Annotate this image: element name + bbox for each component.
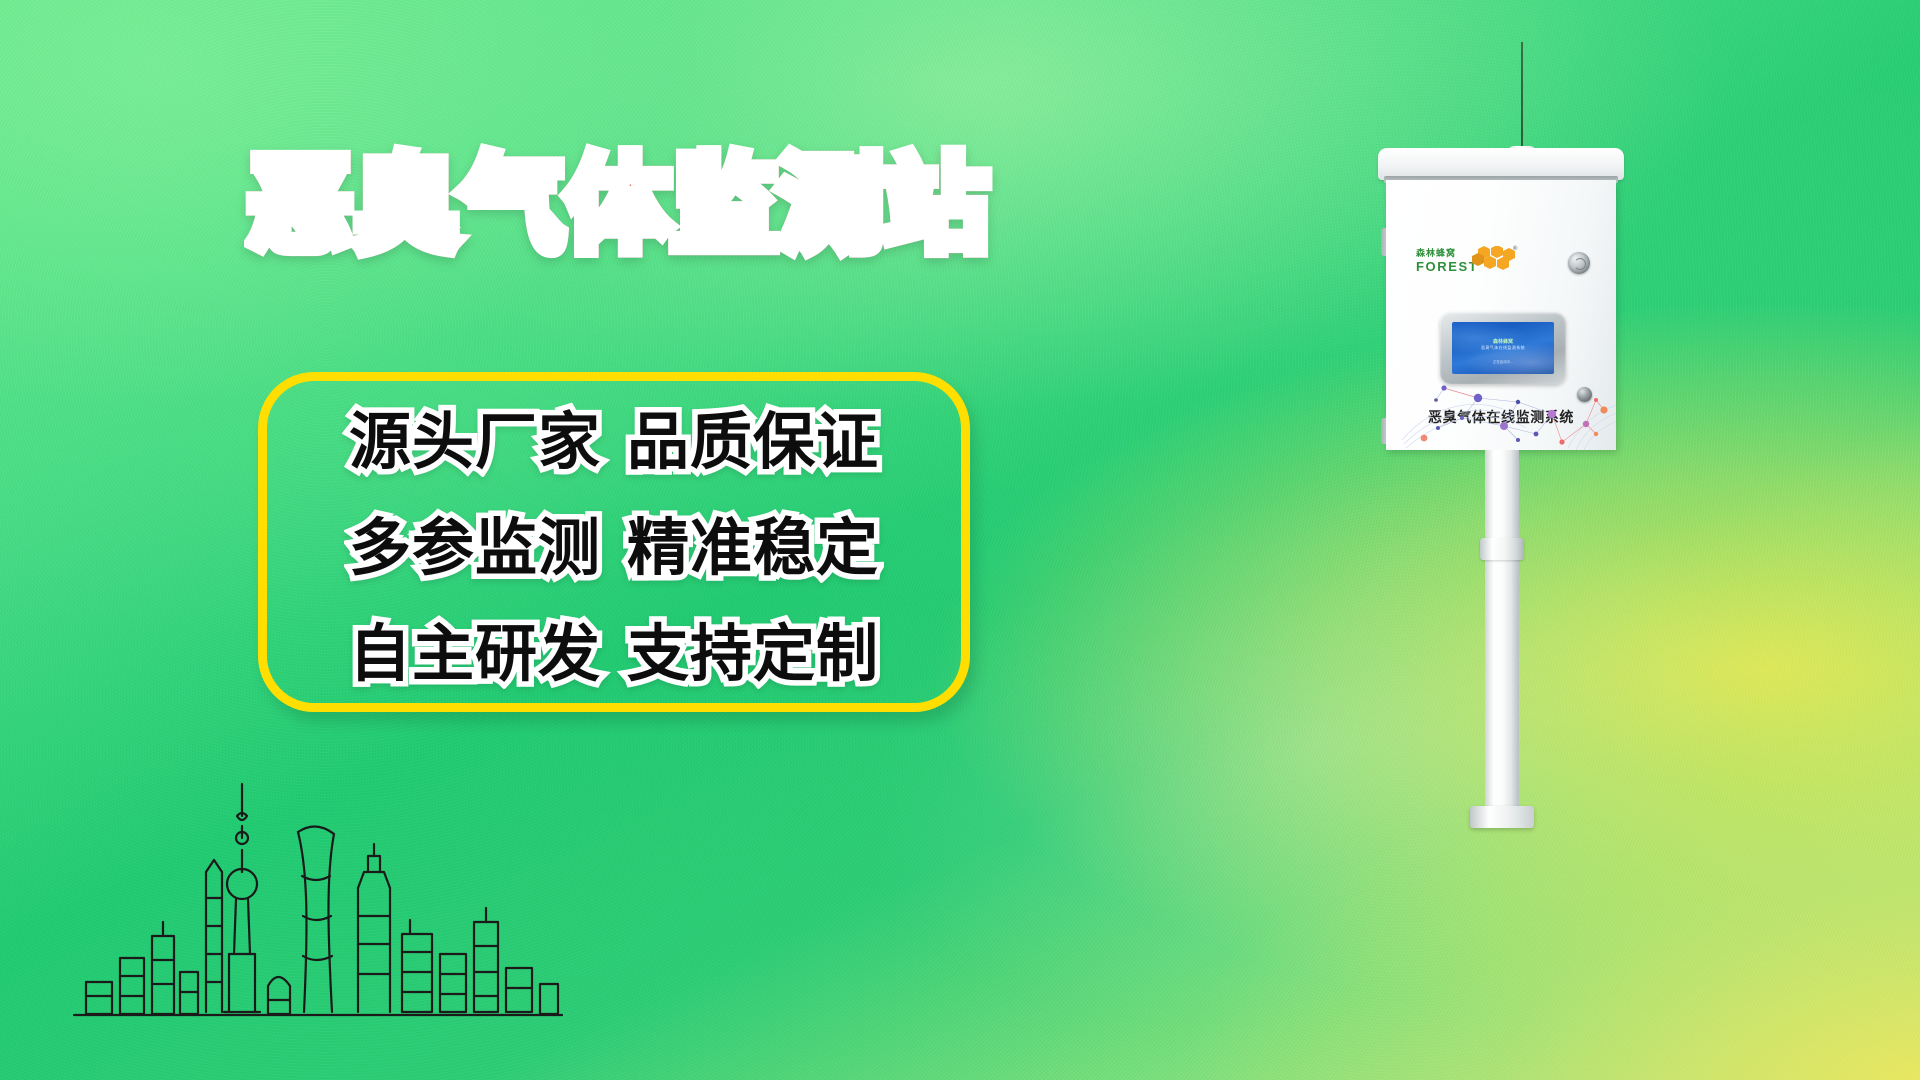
feature-1-right: 品质保证	[627, 408, 879, 477]
feature-1-left: 源头厂家	[349, 408, 601, 477]
cabinet-body: 森林蜂窝 FOREST ®	[1386, 180, 1616, 450]
feature-list: 源头厂家品质保证 多参监测精准稳定 自主研发支持定制	[258, 372, 970, 712]
monitoring-station-device: 森林蜂窝 FOREST ®	[1372, 30, 1632, 1050]
skyline-illustration	[46, 776, 566, 1036]
logo-english-text: FOREST	[1416, 260, 1478, 274]
logo-trademark: ®	[1513, 246, 1517, 252]
feature-line-1: 源头厂家品质保证	[349, 391, 879, 481]
feature-line-3: 自主研发支持定制	[349, 603, 879, 693]
cabinet-lock-knob[interactable]	[1568, 252, 1590, 274]
antenna-rod-icon	[1521, 42, 1523, 150]
forest-logo: 森林蜂窝 FOREST ®	[1416, 248, 1520, 286]
page-title: 恶臭气体监测站	[248, 150, 988, 262]
feature-2-left: 多参监测	[349, 514, 601, 583]
screen-sub-text: 正在启动中...	[1493, 359, 1513, 364]
device-screen[interactable]: 森林蜂窝 恶臭气体在线监测系统 正在启动中...	[1452, 322, 1554, 374]
screen-logo-text: 森林蜂窝	[1493, 338, 1513, 345]
poster-canvas: 恶臭气体监测站 源头厂家品质保证 多参监测精准稳定 自主研发支持定制	[0, 0, 1920, 1080]
screen-title-text: 恶臭气体在线监测系统	[1481, 345, 1525, 351]
feature-3-left: 自主研发	[349, 620, 601, 689]
pole-collar	[1480, 538, 1524, 560]
honeycomb-icon	[1470, 246, 1516, 274]
feature-line-2: 多参监测精准稳定	[349, 497, 879, 587]
logo-chinese-text: 森林蜂窝	[1416, 248, 1456, 259]
pole-base-plate	[1470, 806, 1534, 828]
feature-3-right: 支持定制	[627, 620, 879, 689]
feature-2-right: 精准稳定	[627, 514, 879, 583]
network-decoration-graphic	[1400, 372, 1616, 450]
support-pole	[1485, 450, 1519, 824]
